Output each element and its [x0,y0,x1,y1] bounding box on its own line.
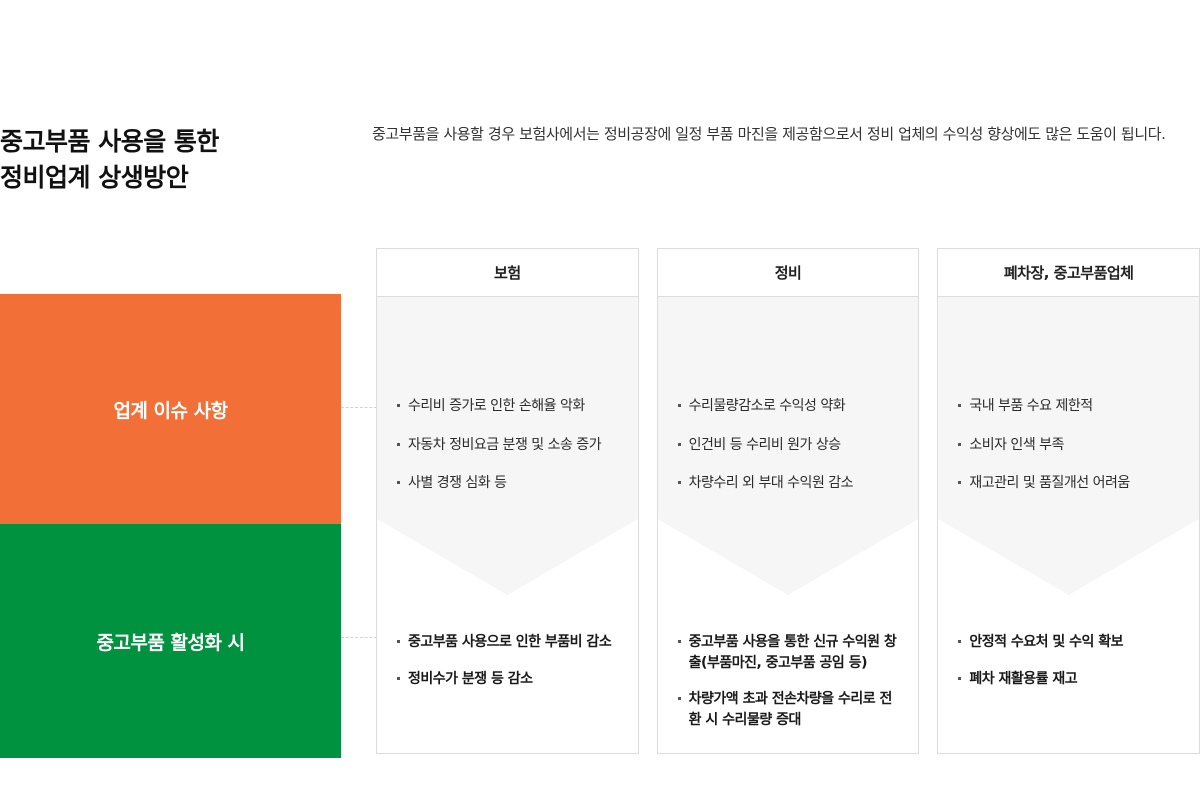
benefit-list-insurance: 중고부품 사용으로 인한 부품비 감소 정비수가 분쟁 등 감소 [377,632,638,689]
issue-list-repair: 수리물량감소로 수익성 약화 인건비 등 수리비 원가 상승 차량수리 외 부대… [658,396,919,494]
card-column-insurance: 보험 수리비 증가로 인한 손해율 악화 자동차 정비요금 분쟁 및 소송 증가… [376,248,639,754]
card-body-scrapyard: 국내 부품 수요 제한적 소비자 인색 부족 재고관리 및 품질개선 어려움 안… [938,297,1199,753]
card-header-scrapyard: 폐차장, 중고부품업체 [938,249,1199,297]
list-item: 차량수리 외 부대 수익원 감소 [678,473,903,494]
issue-list-scrapyard: 국내 부품 수요 제한적 소비자 인색 부족 재고관리 및 품질개선 어려움 [938,396,1199,494]
legend-block-issues: 업계 이슈 사항 [0,294,341,524]
list-item: 재고관리 및 품질개선 어려움 [958,473,1183,494]
comparison-card-group: 보험 수리비 증가로 인한 손해율 악화 자동차 정비요금 분쟁 및 소송 증가… [376,248,1200,754]
list-item: 자동차 정비요금 분쟁 및 소송 증가 [397,435,622,456]
list-item: 중고부품 사용으로 인한 부품비 감소 [397,632,622,653]
page-title: 중고부품 사용을 통한 정비업계 상생방안 [0,124,360,195]
card-body-repair: 수리물량감소로 수익성 약화 인건비 등 수리비 원가 상승 차량수리 외 부대… [658,297,919,753]
list-item: 폐차 재활용률 재고 [958,669,1183,690]
connector-line-issues [341,407,377,408]
issue-list-insurance: 수리비 증가로 인한 손해율 악화 자동차 정비요금 분쟁 및 소송 증가 사별… [377,396,638,494]
card-column-repair: 정비 수리물량감소로 수익성 약화 인건비 등 수리비 원가 상승 차량수리 외… [657,248,920,754]
list-item: 수리물량감소로 수익성 약화 [678,396,903,417]
list-item: 국내 부품 수요 제한적 [958,396,1183,417]
list-item: 차량가액 초과 전손차량을 수리로 전환 시 수리물량 증대 [678,689,903,730]
list-item: 중고부품 사용을 통한 신규 수익원 창출(부품마진, 중고부품 공임 등) [678,632,903,673]
list-item: 정비수가 분쟁 등 감소 [397,669,622,690]
list-item: 안정적 수요처 및 수익 확보 [958,632,1183,653]
connector-line-benefits [341,637,377,638]
list-item: 소비자 인색 부족 [958,435,1183,456]
card-header-insurance: 보험 [377,249,638,297]
card-column-scrapyard: 폐차장, 중고부품업체 국내 부품 수요 제한적 소비자 인색 부족 재고관리 … [937,248,1200,754]
card-header-repair: 정비 [658,249,919,297]
list-item: 사별 경쟁 심화 등 [397,473,622,494]
card-body-insurance: 수리비 증가로 인한 손해율 악화 자동차 정비요금 분쟁 및 소송 증가 사별… [377,297,638,753]
legend-label-issues: 업계 이슈 사항 [113,396,227,423]
page-description: 중고부품을 사용할 경우 보험사에서는 정비공장에 일정 부품 마진을 제공함으… [372,122,1194,148]
legend-block-benefits: 중고부품 활성화 시 [0,524,341,758]
list-item: 인건비 등 수리비 원가 상승 [678,435,903,456]
legend-label-benefits: 중고부품 활성화 시 [96,628,244,655]
list-item: 수리비 증가로 인한 손해율 악화 [397,396,622,417]
benefit-list-scrapyard: 안정적 수요처 및 수익 확보 폐차 재활용률 재고 [938,632,1199,689]
benefit-list-repair: 중고부품 사용을 통한 신규 수익원 창출(부품마진, 중고부품 공임 등) 차… [658,632,919,730]
